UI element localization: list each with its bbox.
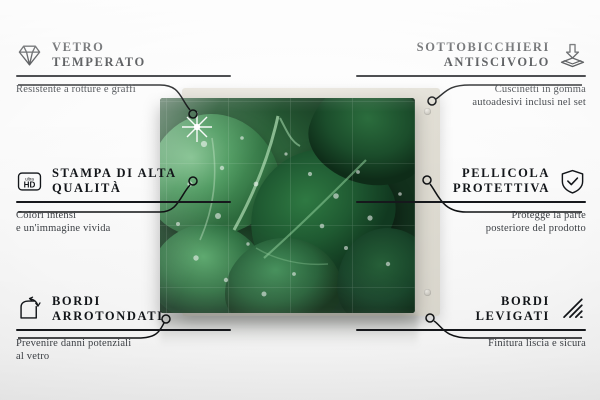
feature-high-quality-print: ultra HD STAMPA DI ALTA QUALITÀ Colori i… xyxy=(16,166,231,235)
shield-check-icon xyxy=(559,168,586,195)
feature-divider xyxy=(356,201,586,203)
polish-lines-icon xyxy=(559,296,586,323)
feature-desc-line1: Resistente a rotture e graffi xyxy=(16,83,231,96)
feature-rounded-edges: BORDI ARROTONDATI Prevenire danni potenz… xyxy=(16,294,231,363)
feature-desc-line1: Prevenire danni potenziali xyxy=(16,337,231,350)
feature-divider xyxy=(16,329,231,331)
feature-divider xyxy=(16,201,231,203)
feature-desc-line2: posteriore del prodotto xyxy=(356,222,586,235)
feature-title-line1: STAMPA DI ALTA xyxy=(52,166,177,181)
feature-divider xyxy=(16,75,231,77)
feature-title-line1: PELLICOLA xyxy=(453,166,550,181)
feature-divider xyxy=(356,75,586,77)
feature-divider xyxy=(356,329,586,331)
feature-title-line2: ANTISCIVOLO xyxy=(417,55,550,70)
feature-desc-line1: Cuscinetti in gomma xyxy=(356,83,586,96)
rubber-pad-top-right xyxy=(424,108,431,115)
feature-tempered-glass: VETRO TEMPERATO Resistente a rotture e g… xyxy=(16,40,231,96)
feature-title-line2: PROTETTIVA xyxy=(453,181,550,196)
feature-title-line1: BORDI xyxy=(476,294,550,309)
feature-title-line2: QUALITÀ xyxy=(52,181,177,196)
feature-desc-line2: autoadesivi inclusi nel set xyxy=(356,96,586,109)
feature-polished-edges: BORDI LEVIGATI Finitura liscia e sicura xyxy=(356,294,586,350)
feature-protective-film: PELLICOLA PROTETTIVA Protegge la parte p… xyxy=(356,166,586,235)
svg-text:HD: HD xyxy=(24,180,36,189)
feature-desc-line1: Protegge la parte xyxy=(356,209,586,222)
press-pad-icon xyxy=(559,42,586,69)
diamond-icon xyxy=(16,42,43,69)
rounded-corner-icon xyxy=(16,296,43,323)
feature-title-line1: SOTTOBICCHIERI xyxy=(417,40,550,55)
feature-desc-line1: Colori intensi xyxy=(16,209,231,222)
feature-title-line1: VETRO xyxy=(52,40,146,55)
infographic-canvas: VETRO TEMPERATO Resistente a rotture e g… xyxy=(0,0,600,400)
feature-desc-line2: e un'immagine vivida xyxy=(16,222,231,235)
feature-title-line1: BORDI xyxy=(52,294,164,309)
feature-title-line2: ARROTONDATI xyxy=(52,309,164,324)
ultra-hd-icon: ultra HD xyxy=(16,168,43,195)
feature-desc-line1: Finitura liscia e sicura xyxy=(356,337,586,350)
feature-desc-line2: al vetro xyxy=(16,350,231,363)
feature-title-line2: LEVIGATI xyxy=(476,309,550,324)
feature-non-slip-pads: SOTTOBICCHIERI ANTISCIVOLO Cuscinetti in… xyxy=(356,40,586,109)
feature-title-line2: TEMPERATO xyxy=(52,55,146,70)
